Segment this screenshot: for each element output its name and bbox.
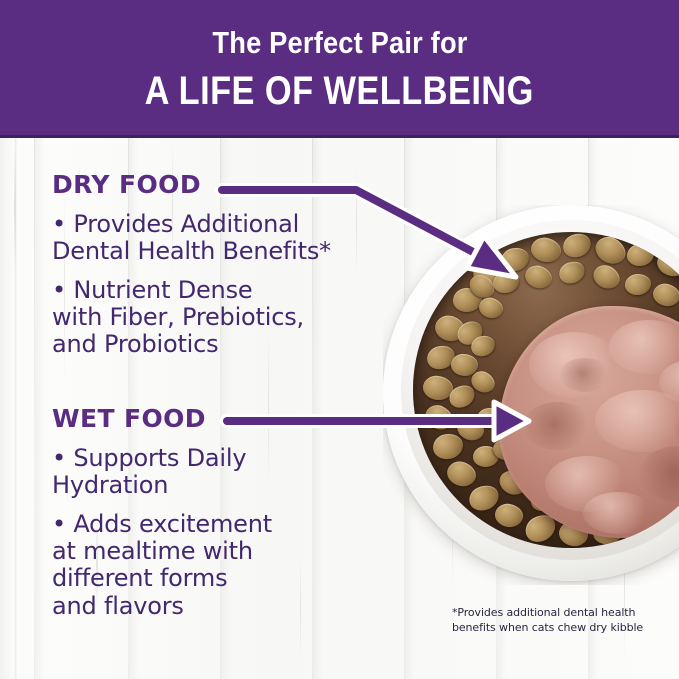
wet-food-heading: WET FOOD bbox=[52, 406, 272, 431]
page-title-line1: The Perfect Pair for bbox=[212, 27, 467, 58]
dry-food-bullets: • Provides Additional Dental Health Bene… bbox=[52, 211, 331, 359]
section-wet-food: WET FOOD • Supports Daily Hydration • Ad… bbox=[52, 406, 272, 632]
page-title-line2: A LIFE OF WELLBEING bbox=[145, 71, 534, 111]
list-item: • Nutrient Dense with Fiber, Prebiotics,… bbox=[52, 277, 331, 358]
list-item: • Provides Additional Dental Health Bene… bbox=[52, 211, 331, 265]
poster-canvas: DRY FOOD • Provides Additional Dental He… bbox=[0, 0, 679, 679]
list-item: • Adds excitement at mealtime with diffe… bbox=[52, 511, 272, 619]
footnote-text: *Provides additional dental health benef… bbox=[452, 606, 679, 636]
section-dry-food: DRY FOOD • Provides Additional Dental He… bbox=[52, 172, 331, 371]
dry-food-heading: DRY FOOD bbox=[52, 172, 331, 197]
list-item: • Supports Daily Hydration bbox=[52, 445, 272, 499]
header-banner: The Perfect Pair for A LIFE OF WELLBEING bbox=[0, 0, 679, 138]
pet-bowl-photo bbox=[383, 205, 679, 585]
wet-food-bullets: • Supports Daily Hydration • Adds excite… bbox=[52, 445, 272, 620]
